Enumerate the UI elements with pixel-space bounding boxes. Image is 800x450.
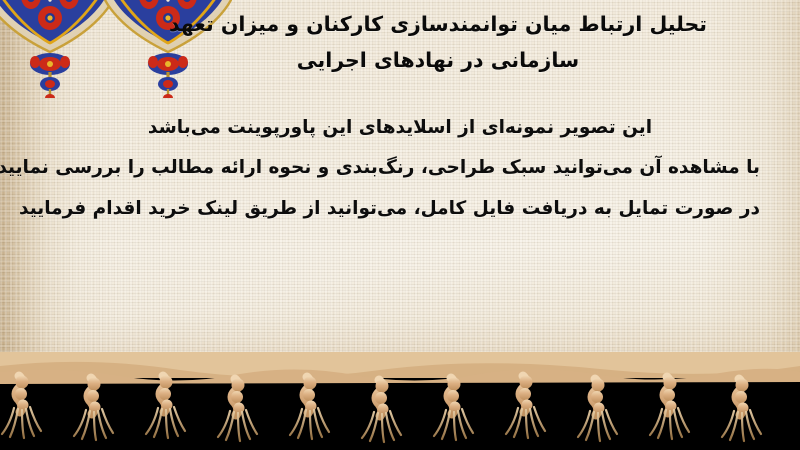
slide-body-text: این تصویر نمونه‌ای از اسلایدهای این پاور…: [40, 108, 760, 229]
slide-title: تحلیل ارتباط میان توانمندسازی کارکنان و …: [128, 6, 748, 79]
slide-body-line-3: در صورت تمایل به دریافت فایل کامل، می‌تو…: [40, 189, 760, 229]
slide-canvas: تحلیل ارتباط میان توانمندسازی کارکنان و …: [0, 0, 800, 450]
slide-title-line-1: تحلیل ارتباط میان توانمندسازی کارکنان و …: [128, 6, 748, 42]
slide-title-line-2: سازمانی در نهادهای اجرایی: [128, 42, 748, 78]
carpet-dark-field: [0, 378, 800, 450]
slide-body-line-2: با مشاهده آن می‌توانید سبک طراحی، رنگ‌بن…: [40, 148, 760, 188]
slide-body-line-1: این تصویر نمونه‌ای از اسلایدهای این پاور…: [40, 108, 760, 148]
